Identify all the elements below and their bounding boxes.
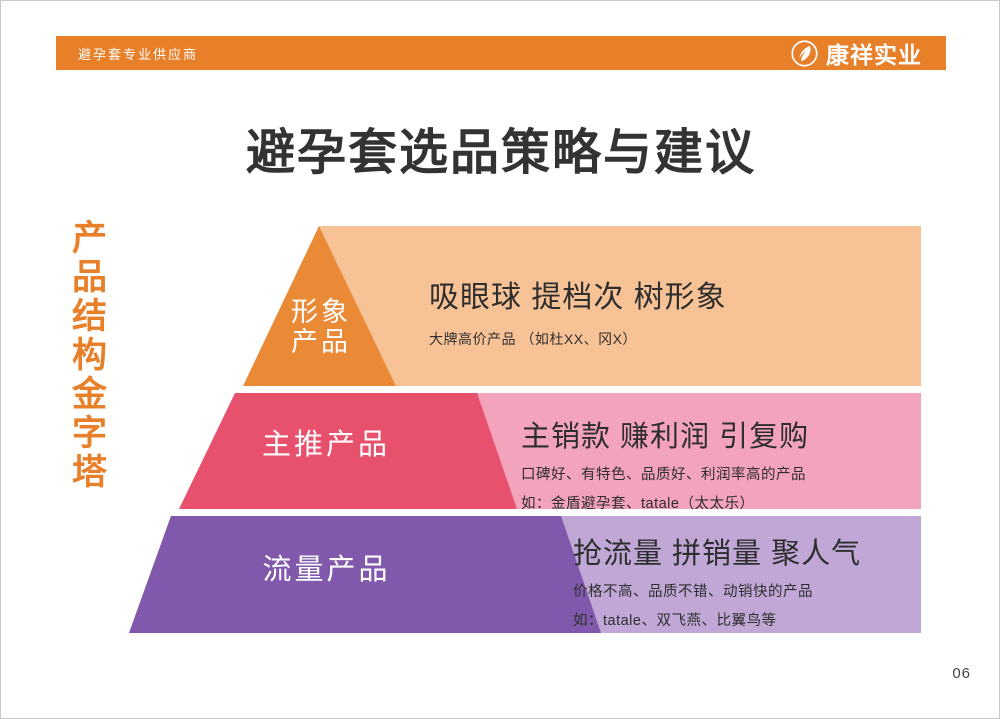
brand-name: 康祥实业	[826, 36, 922, 70]
tier-1-label: 形象 产品	[273, 297, 369, 357]
side-label-product-structure-pyramid: 产品结构金字塔	[59, 219, 105, 492]
leaf-swirl-circle-icon	[791, 40, 818, 67]
brand-logo: 康祥实业	[791, 36, 922, 70]
tier-3-sub-2: 如：tatale、双飞燕、比翼鸟等	[573, 609, 933, 630]
tier-3-body: 抢流量 拼销量 聚人气 价格不高、品质不错、动销快的产品 如：tatale、双飞…	[573, 530, 933, 630]
tier-2-label: 主推产品	[241, 429, 411, 461]
tier-2-sub-1: 口碑好、有特色、品质好、利润率高的产品	[521, 463, 921, 484]
page-title: 避孕套选品策略与建议	[1, 113, 1000, 184]
tier-1-headline: 吸眼球 提档次 树形象	[429, 272, 899, 316]
header-bar: 避孕套专业供应商 康祥实业	[56, 36, 946, 70]
slide: 避孕套专业供应商 康祥实业 避孕套选品策略与建议 产品结构金字塔 形象 产品 吸…	[0, 0, 1000, 719]
header-tagline: 避孕套专业供应商	[78, 44, 198, 63]
tier-1-label-line1: 形象	[273, 297, 369, 327]
tier-2-sub-2: 如：金盾避孕套、tatale（太太乐）	[521, 492, 921, 513]
tier-1-body: 吸眼球 提档次 树形象 大牌高价产品 （如杜XX、冈X）	[429, 272, 899, 349]
tier-1-label-line2: 产品	[273, 327, 369, 357]
tier-2-body: 主销款 赚利润 引复购 口碑好、有特色、品质好、利润率高的产品 如：金盾避孕套、…	[521, 413, 921, 513]
page-number: 06	[952, 665, 971, 682]
tier-2-headline: 主销款 赚利润 引复购	[521, 413, 921, 455]
tier-1-sub-1: 大牌高价产品 （如杜XX、冈X）	[429, 329, 899, 349]
tier-3-sub-1: 价格不高、品质不错、动销快的产品	[573, 580, 933, 601]
tier-3-headline: 抢流量 拼销量 聚人气	[573, 530, 933, 572]
tier-3-label: 流量产品	[239, 554, 414, 586]
